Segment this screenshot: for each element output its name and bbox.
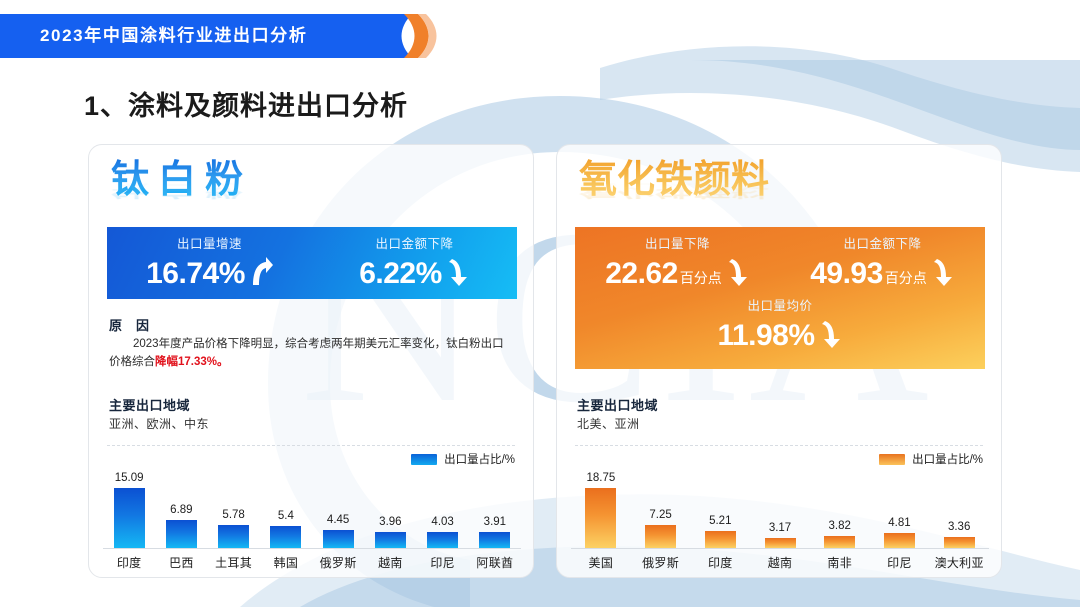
banner-title: 2023年中国涂料行业进出口分析	[40, 14, 307, 58]
bar	[218, 525, 249, 548]
region-text: 北美、亚洲	[577, 415, 640, 432]
stat-value: 22.62	[605, 256, 678, 292]
reason-text: 2023年度产品价格下降明显，综合考虑两年期美元汇率变化，钛白粉出口价格综合降幅…	[109, 335, 515, 371]
x-axis-label: 越南	[750, 551, 810, 575]
product-title-reflection: 钛白粉	[111, 179, 252, 200]
bar-column: 6.89	[155, 467, 207, 548]
bar-series-left: 15.096.895.785.44.453.964.033.91	[103, 467, 521, 549]
arrow-down-icon	[819, 319, 843, 349]
card-titanium-dioxide: 钛白粉 钛白粉 出口量增速 16.74%	[88, 144, 534, 578]
x-axis-label: 印度	[690, 551, 750, 575]
bar	[114, 488, 145, 548]
bar-value-label: 6.89	[170, 504, 192, 517]
stat-value: 16.74%	[146, 256, 245, 292]
bar-column: 4.81	[870, 467, 930, 548]
bar-value-label: 4.45	[327, 514, 349, 527]
bar-column: 7.25	[631, 467, 691, 548]
bar	[944, 537, 975, 548]
bar	[427, 532, 458, 548]
stat-value: 6.22%	[359, 256, 442, 292]
reason-highlight: 降幅17.33%。	[155, 356, 229, 368]
bar-column: 3.17	[750, 467, 810, 548]
stat-banner-orange: 出口量下降 22.62 百分点 出口金额下降	[575, 227, 985, 369]
page-title: 1、涂料及颜料进出口分析	[84, 84, 408, 123]
bar-value-label: 5.21	[709, 515, 731, 528]
bar	[323, 530, 354, 548]
bar-value-label: 3.96	[379, 516, 401, 529]
bar	[166, 520, 197, 548]
bar-column: 5.78	[208, 467, 260, 548]
stat-export-avg-price: 出口量均价 11.98%	[575, 292, 985, 354]
bar-column: 15.09	[103, 467, 155, 548]
bar-column: 4.45	[312, 467, 364, 548]
bar-value-label: 4.81	[888, 517, 910, 530]
x-axis-labels-right: 美国俄罗斯印度越南南非印尼澳大利亚	[571, 551, 989, 575]
legend-label: 出口量占比/%	[444, 451, 515, 467]
stat-export-volume-decline: 出口量下降 22.62 百分点	[575, 227, 780, 292]
bar	[585, 488, 616, 548]
bar-column: 5.21	[690, 467, 750, 548]
stat-label: 出口金额下降	[312, 236, 517, 252]
region-heading: 主要出口地域	[109, 395, 190, 414]
arrow-down-icon	[931, 257, 955, 287]
bar	[375, 532, 406, 548]
bar	[270, 526, 301, 548]
stat-label: 出口量均价	[575, 298, 985, 314]
bar	[824, 536, 855, 548]
arrow-down-icon	[726, 257, 750, 287]
bar-column: 5.4	[260, 467, 312, 548]
x-axis-label: 澳大利亚	[929, 551, 989, 575]
stat-banner-blue: 出口量增速 16.74% 出口金额下降	[107, 227, 517, 299]
legend-label: 出口量占比/%	[912, 451, 983, 467]
arrow-down-icon	[446, 257, 470, 287]
x-axis-label: 俄罗斯	[631, 551, 691, 575]
chart-legend: 出口量占比/%	[879, 451, 983, 467]
x-axis-label: 阿联酋	[469, 551, 521, 575]
stat-value: 49.93	[810, 256, 883, 292]
bar-column: 3.36	[929, 467, 989, 548]
slide-root: NCIA 2023年中国涂料行业进出口分析 1、涂料及颜料进出口分析 钛白粉 钛…	[0, 0, 1080, 607]
x-axis-label: 巴西	[155, 551, 207, 575]
bar-value-label: 3.36	[948, 521, 970, 534]
bar-value-label: 4.03	[431, 516, 453, 529]
header-banner: 2023年中国涂料行业进出口分析	[0, 14, 440, 58]
x-axis-label: 南非	[810, 551, 870, 575]
x-axis-labels-left: 印度巴西土耳其韩国俄罗斯越南印尼阿联酋	[103, 551, 521, 575]
region-heading: 主要出口地域	[577, 395, 658, 414]
region-text: 亚洲、欧洲、中东	[109, 415, 209, 432]
bar-column: 3.82	[810, 467, 870, 548]
bar-column: 3.96	[364, 467, 416, 548]
bar	[765, 538, 796, 548]
section-divider	[575, 445, 983, 446]
stat-unit: 百分点	[680, 268, 722, 288]
stat-export-volume-growth: 出口量增速 16.74%	[107, 227, 312, 292]
bar	[705, 531, 736, 548]
bar	[645, 525, 676, 548]
x-axis-label: 印尼	[417, 551, 469, 575]
stat-label: 出口量下降	[575, 236, 780, 252]
bar-value-label: 18.75	[586, 472, 615, 485]
bar-value-label: 5.4	[278, 510, 294, 523]
x-axis-label: 越南	[364, 551, 416, 575]
bar-value-label: 3.91	[484, 516, 506, 529]
chart-titanium-dioxide: 出口量占比/% 15.096.895.785.44.453.964.033.91…	[103, 451, 521, 575]
stat-value: 11.98%	[717, 318, 814, 354]
x-axis-label: 韩国	[260, 551, 312, 575]
reason-heading: 原 因	[109, 315, 150, 334]
x-axis-label: 印度	[103, 551, 155, 575]
bar-value-label: 3.17	[769, 522, 791, 535]
product-title-reflection: 氧化铁颜料	[579, 179, 769, 200]
x-axis-label: 印尼	[870, 551, 930, 575]
stat-export-value-decline: 出口金额下降 49.93 百分点	[780, 227, 985, 292]
bar	[479, 532, 510, 548]
bar-value-label: 15.09	[115, 472, 144, 485]
stat-label: 出口量增速	[107, 236, 312, 252]
arrow-up-icon	[249, 257, 273, 287]
legend-swatch-icon	[411, 454, 437, 465]
bar-value-label: 7.25	[649, 509, 671, 522]
bar	[884, 533, 915, 548]
bar-series-right: 18.757.255.213.173.824.813.36	[571, 467, 989, 549]
x-axis-label: 美国	[571, 551, 631, 575]
bar-column: 4.03	[417, 467, 469, 548]
bar-column: 18.75	[571, 467, 631, 548]
bar-value-label: 5.78	[222, 509, 244, 522]
x-axis-label: 俄罗斯	[312, 551, 364, 575]
x-axis-label: 土耳其	[208, 551, 260, 575]
stat-unit: 百分点	[885, 268, 927, 288]
legend-swatch-icon	[879, 454, 905, 465]
stat-export-value-decline: 出口金额下降 6.22%	[312, 227, 517, 292]
bar-column: 3.91	[469, 467, 521, 548]
stat-label: 出口金额下降	[780, 236, 985, 252]
bar-value-label: 3.82	[829, 520, 851, 533]
chart-iron-oxide-pigment: 出口量占比/% 18.757.255.213.173.824.813.36 美国…	[571, 451, 989, 575]
product-title-block: 氧化铁颜料 氧化铁颜料	[579, 157, 769, 219]
product-title-block: 钛白粉 钛白粉	[111, 157, 252, 219]
section-divider	[107, 445, 515, 446]
chart-legend: 出口量占比/%	[411, 451, 515, 467]
card-iron-oxide-pigment: 氧化铁颜料 氧化铁颜料 出口量下降 22.62 百分点	[556, 144, 1002, 578]
